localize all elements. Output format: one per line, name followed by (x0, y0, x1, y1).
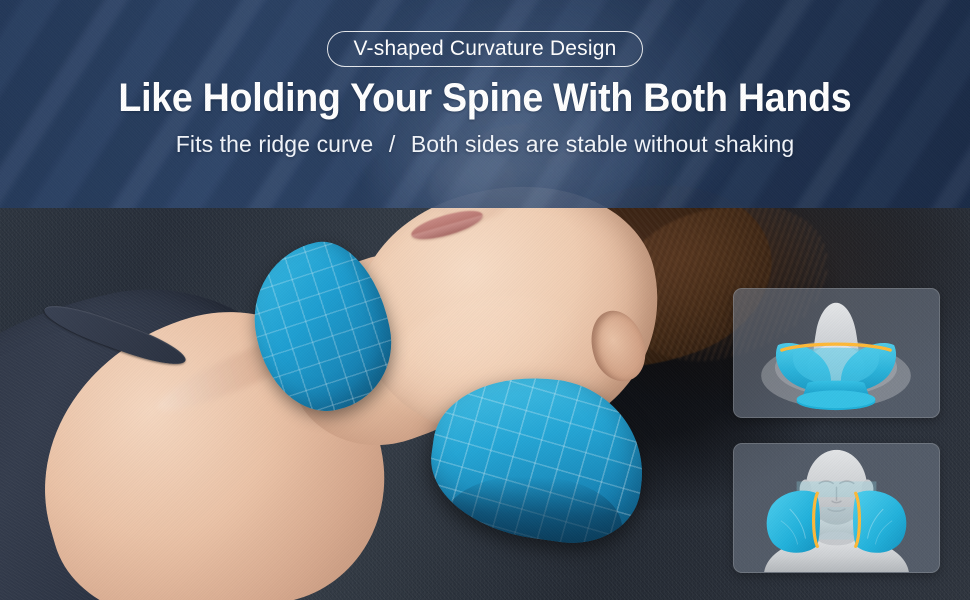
inset-panel-rear-cradle (733, 288, 940, 418)
header-content: V-shaped Curvature Design Like Holding Y… (0, 0, 970, 208)
badge-v-shaped-curvature: V-shaped Curvature Design (327, 31, 644, 67)
inset-panel-front-support (733, 443, 940, 573)
subline-left: Fits the ridge curve (176, 131, 374, 157)
header-overlay: V-shaped Curvature Design Like Holding Y… (0, 0, 970, 208)
subline-right: Both sides are stable without shaking (411, 131, 794, 157)
subline-separator: / (380, 131, 405, 158)
badge-label: V-shaped Curvature Design (354, 37, 617, 61)
rear-cradle-illustration (734, 289, 939, 417)
front-support-illustration (734, 444, 939, 572)
headline: Like Holding Your Spine With Both Hands (118, 76, 851, 121)
product-banner: V-shaped Curvature Design Like Holding Y… (0, 0, 970, 600)
pillow-wing-right (422, 364, 654, 552)
subline: Fits the ridge curve / Both sides are st… (176, 131, 795, 158)
